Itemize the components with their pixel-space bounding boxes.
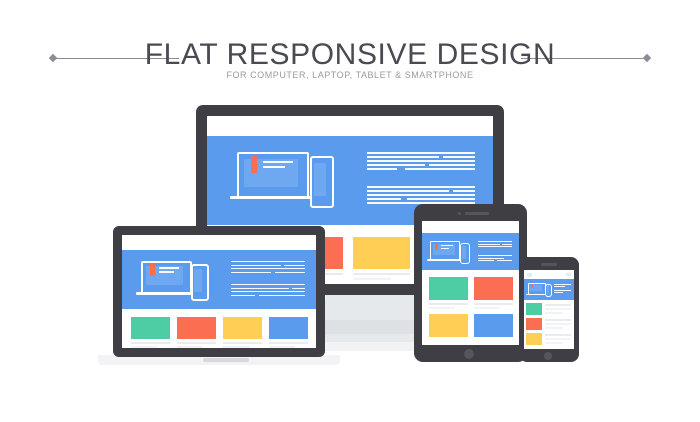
speaker-icon	[465, 212, 489, 215]
monitor-navbar	[207, 116, 493, 136]
devices-icon	[237, 152, 330, 208]
laptop-card-3[interactable]	[223, 317, 262, 339]
tablet-card-1[interactable]	[429, 277, 468, 300]
page-title: FLAT RESPONSIVE DESIGN	[0, 40, 700, 70]
illustration-canvas: FLAT RESPONSIVE DESIGN FOR COMPUTER, LAP…	[0, 0, 700, 422]
laptop-hero-paragraph-1	[231, 261, 305, 276]
monitor-hero-paragraph-1	[367, 152, 475, 174]
home-button-icon[interactable]	[544, 352, 552, 360]
phone-hero	[524, 279, 574, 300]
tablet-card-3[interactable]	[429, 314, 468, 337]
tablet-card-4[interactable]	[474, 314, 513, 337]
devices-icon-laptop-base	[427, 259, 461, 261]
laptop-navbar	[122, 235, 316, 250]
phone-hero-paragraph	[554, 284, 571, 295]
bookmark-icon	[150, 264, 155, 276]
phone-screen	[524, 270, 574, 349]
page-subtitle: FOR COMPUTER, LAPTOP, TABLET & SMARTPHON…	[0, 70, 700, 81]
tablet-card-2[interactable]	[474, 277, 513, 300]
phone-content	[524, 300, 574, 349]
devices-icon-phone-screen	[462, 246, 466, 259]
devices-icon	[430, 241, 468, 264]
bookmark-icon	[531, 284, 533, 288]
phone-list-thumb-1[interactable]	[526, 303, 542, 315]
device-phone[interactable]	[519, 257, 579, 362]
header: FLAT RESPONSIVE DESIGN FOR COMPUTER, LAP…	[0, 0, 700, 92]
tablet-hero-paragraph-2	[478, 255, 512, 264]
phone-navbar	[524, 270, 574, 279]
phone-list-thumb-2[interactable]	[526, 318, 542, 330]
tablet-hero	[422, 233, 519, 270]
tablet-screen	[422, 221, 519, 345]
laptop-hero-paragraph-2	[231, 284, 305, 299]
laptop-content	[122, 309, 316, 348]
devices-icon	[141, 261, 205, 299]
monitor-card-3[interactable]	[353, 237, 410, 269]
devices-icon-laptop-base	[136, 292, 193, 295]
speaker-icon	[541, 263, 557, 266]
camera-icon	[458, 212, 461, 215]
trackpad-icon	[203, 358, 249, 362]
bookmark-icon	[435, 243, 438, 250]
devices-icon-laptop-base	[230, 196, 312, 199]
phone-list-thumb-3[interactable]	[526, 333, 542, 345]
devices-icon	[528, 283, 550, 296]
devices-icon-phone-screen	[194, 269, 202, 292]
devices-icon-laptop-base	[526, 294, 546, 295]
tablet-hero-paragraph-1	[478, 241, 512, 250]
devices-icon-phone-screen	[314, 163, 326, 196]
laptop-card-1[interactable]	[131, 317, 170, 339]
laptop-card-4[interactable]	[269, 317, 308, 339]
laptop-screen	[122, 235, 316, 348]
bookmark-icon	[251, 156, 257, 173]
laptop-card-2[interactable]	[177, 317, 216, 339]
monitor-stand-band	[320, 320, 426, 334]
devices-icon-line	[263, 161, 293, 163]
devices-icon-line	[263, 166, 285, 168]
device-laptop[interactable]	[113, 226, 325, 368]
home-button-icon[interactable]	[464, 349, 474, 359]
tablet-navbar	[422, 221, 519, 233]
tablet-content	[422, 270, 519, 345]
laptop-hero	[122, 250, 316, 309]
devices-icon-phone-screen	[547, 286, 550, 294]
device-tablet[interactable]	[414, 204, 527, 362]
